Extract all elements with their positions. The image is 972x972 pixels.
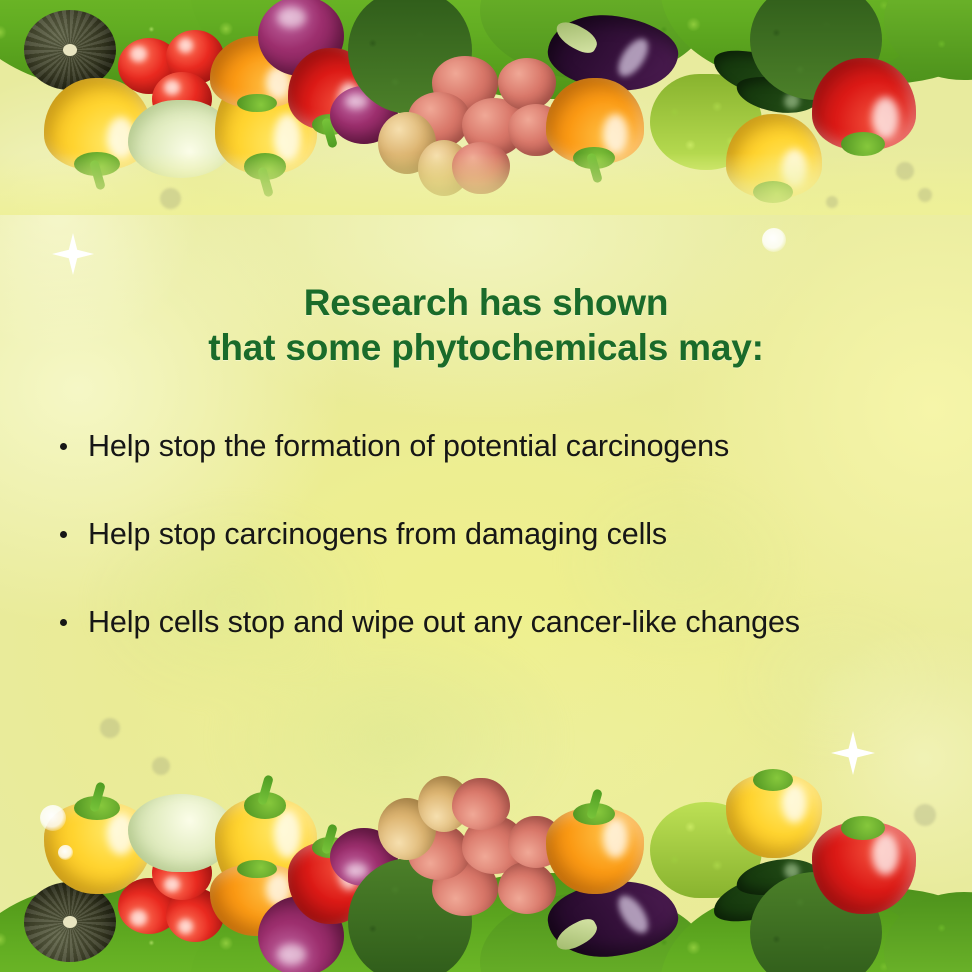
list-item-text: Help stop the formation of potential car… [88,429,729,463]
yellow-bell-pepper [726,774,822,858]
page-title-line-1: Research has shown [0,280,972,325]
yellow-bell-pepper [726,114,822,198]
page-title: Research has shown that some phytochemic… [0,280,972,370]
red-potato [498,58,556,110]
bullet-dot-icon [60,443,67,450]
red-potato [498,862,556,914]
list-item: Help stop carcinogens from damaging cell… [0,514,972,555]
content-block: Research has shown that some phytochemic… [0,255,972,643]
page-title-line-2: that some phytochemicals may: [0,325,972,370]
vegetable-border-top [0,0,972,215]
vegetable-border-bottom [0,757,972,972]
benefits-list: Help stop the formation of potential car… [0,426,972,643]
poster-canvas: Research has shown that some phytochemic… [0,0,972,972]
bullet-dot-icon [60,531,67,538]
red-potato [452,142,510,194]
list-item-text: Help cells stop and wipe out any cancer-… [88,605,800,639]
kabocha-squash [24,882,116,962]
bullet-dot-icon [60,619,67,626]
red-bell-pepper [812,58,916,150]
red-potato [452,778,510,830]
list-item: Help stop the formation of potential car… [0,426,972,467]
list-item-text: Help stop carcinogens from damaging cell… [88,517,667,551]
list-item: Help cells stop and wipe out any cancer-… [0,602,972,643]
orange-bell-pepper [546,78,644,164]
